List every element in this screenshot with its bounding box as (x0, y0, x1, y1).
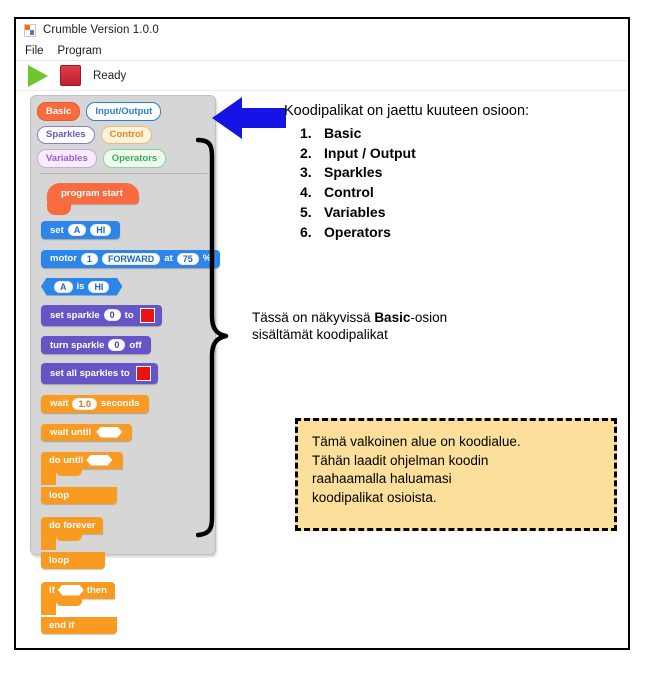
section-number-3: 3. (284, 165, 324, 179)
block-end-if-label: end if (49, 620, 74, 631)
menu-file[interactable]: File (25, 45, 44, 57)
status-label: Ready (93, 70, 126, 82)
block-pin-is-value[interactable]: HI (88, 281, 109, 293)
block-do-forever-header[interactable]: do forever (41, 517, 103, 534)
section-number-1: 1. (284, 126, 324, 140)
sections-ordered-list: 1. Basic 2. Input / Output 3. Sparkles 4… (284, 126, 634, 239)
section-item-1: 1. Basic (284, 126, 634, 140)
block-if-then-header[interactable]: if then (41, 582, 115, 599)
block-do-forever[interactable]: do forever loop (41, 515, 179, 569)
category-tab-basic[interactable]: Basic (37, 102, 80, 121)
section-number-2: 2. (284, 146, 324, 160)
block-motor-direction[interactable]: FORWARD (102, 253, 160, 265)
block-turn-sparkle-number[interactable]: 0 (108, 339, 125, 351)
block-do-until-arm (41, 469, 56, 485)
block-motor[interactable]: motor 1 FORWARD at 75 % (41, 250, 220, 268)
basic-section-note: Tässä on näkyvissä Basic-osion sisältämä… (252, 309, 502, 344)
section-item-6: 6. Operators (284, 225, 634, 239)
block-if-label: if (49, 585, 55, 596)
section-item-2: 2. Input / Output (284, 146, 634, 160)
block-pin-is-label: is (77, 281, 85, 292)
colour-swatch-icon[interactable] (136, 366, 151, 381)
block-wait-until[interactable]: wait until (41, 424, 132, 441)
callout-line-2: Tähän laadit ohjelman koodin (312, 452, 600, 471)
block-then-label: then (87, 585, 107, 596)
block-pin-is-state[interactable]: A is HI (41, 278, 122, 296)
block-if-then-arm (41, 599, 56, 615)
section-item-4: 4. Control (284, 185, 634, 199)
boolean-slot[interactable] (58, 585, 84, 596)
section-number-6: 6. (284, 225, 324, 239)
block-set-pin-value[interactable]: A (68, 224, 87, 236)
section-number-5: 5. (284, 205, 324, 219)
section-label-2: Input / Output (324, 146, 416, 160)
stop-square-icon[interactable] (60, 65, 81, 86)
section-label-5: Variables (324, 205, 386, 219)
section-number-4: 4. (284, 185, 324, 199)
block-set-sparkle[interactable]: set sparkle 0 to (41, 305, 162, 326)
block-end-if-footer[interactable]: end if (41, 617, 117, 634)
basic-note-line2: sisältämät koodipalikat (252, 327, 388, 342)
block-palette: Basic Input/Output Sparkles Control Vari… (30, 95, 216, 555)
block-turn-sparkle-off[interactable]: turn sparkle 0 off (41, 336, 151, 354)
block-do-forever-label: do forever (49, 520, 95, 531)
block-set-state-value[interactable]: HI (90, 224, 111, 236)
block-set-sparkle-to-label: to (125, 310, 134, 321)
colour-swatch-icon[interactable] (140, 308, 155, 323)
block-do-forever-footer[interactable]: loop (41, 552, 105, 569)
window-title: Crumble Version 1.0.0 (43, 24, 159, 36)
play-triangle-icon[interactable] (28, 65, 48, 87)
block-wait-seconds[interactable]: wait 1.0 seconds (41, 395, 149, 413)
block-wait-label: wait (50, 398, 68, 409)
basic-note-bold: Basic (374, 310, 410, 325)
menu-bar: File Program (16, 41, 628, 61)
basic-note-post: -osion (410, 310, 447, 325)
block-if-then[interactable]: if then end if (41, 580, 179, 634)
boolean-slot[interactable] (96, 427, 122, 438)
menu-program[interactable]: Program (58, 45, 102, 57)
block-do-until-label: do until (49, 455, 83, 466)
callout-line-4: koodipalikat osioista. (312, 489, 600, 508)
block-loop2-label: loop (49, 555, 69, 566)
basic-note-pre: Tässä on näkyvissä (252, 310, 374, 325)
code-area-callout: Tämä valkoinen alue on koodialue. Tähän … (295, 418, 617, 531)
category-tab-variables[interactable]: Variables (37, 149, 97, 168)
section-label-4: Control (324, 185, 374, 199)
callout-line-3: raahaamalla haluamasi (312, 470, 600, 489)
block-set-sparkle-number[interactable]: 0 (104, 309, 121, 321)
block-turn-sparkle-off-label: off (129, 340, 141, 351)
blue-left-arrow-icon (212, 96, 286, 140)
block-set-pin[interactable]: set A HI (41, 221, 120, 239)
block-pin-is-pin[interactable]: A (54, 281, 73, 293)
block-motor-number[interactable]: 1 (81, 253, 98, 265)
block-set-label: set (50, 225, 64, 236)
block-program-start-label: program start (61, 188, 123, 199)
block-do-until[interactable]: do until loop (41, 450, 179, 504)
category-tab-operators[interactable]: Operators (103, 149, 166, 168)
block-set-all-sparkles-label: set all sparkles to (50, 368, 130, 379)
block-wait-seconds-label: seconds (101, 398, 140, 409)
category-tab-sparkles[interactable]: Sparkles (37, 126, 95, 145)
block-wait-until-label: wait until (50, 427, 91, 438)
block-wait-value[interactable]: 1.0 (72, 398, 97, 410)
boolean-slot[interactable] (86, 455, 112, 466)
section-label-3: Sparkles (324, 165, 382, 179)
block-do-until-footer[interactable]: loop (41, 487, 117, 504)
crumble-app-icon (24, 24, 36, 37)
block-turn-sparkle-label: turn sparkle (50, 340, 104, 351)
section-item-5: 5. Variables (284, 205, 634, 219)
category-tab-row: Basic Input/Output Sparkles Control Vari… (31, 96, 215, 170)
block-program-start[interactable]: program start (47, 183, 139, 204)
section-label-1: Basic (324, 126, 361, 140)
section-label-6: Operators (324, 225, 391, 239)
block-list: program start set A HI motor 1 FORWARD a… (31, 174, 215, 634)
title-bar: Crumble Version 1.0.0 (16, 19, 628, 41)
callout-line-1: Tämä valkoinen alue on koodialue. (312, 433, 600, 452)
category-tab-input-output[interactable]: Input/Output (86, 102, 161, 121)
section-item-3: 3. Sparkles (284, 165, 634, 179)
category-tab-control[interactable]: Control (101, 126, 153, 145)
sections-intro: Koodipalikat on jaettu kuuteen osioon: (284, 104, 634, 119)
block-motor-label: motor (50, 253, 77, 264)
block-motor-at-label: at (164, 253, 172, 264)
block-loop-label: loop (49, 490, 69, 501)
block-do-until-header[interactable]: do until (41, 452, 123, 469)
curly-brace-annotation (196, 136, 232, 540)
block-set-all-sparkles[interactable]: set all sparkles to (41, 363, 158, 384)
sections-annotation: Koodipalikat on jaettu kuuteen osioon: 1… (284, 104, 634, 244)
toolbar: Ready (16, 61, 628, 91)
block-set-sparkle-label: set sparkle (50, 310, 100, 321)
block-do-forever-arm (41, 534, 56, 550)
